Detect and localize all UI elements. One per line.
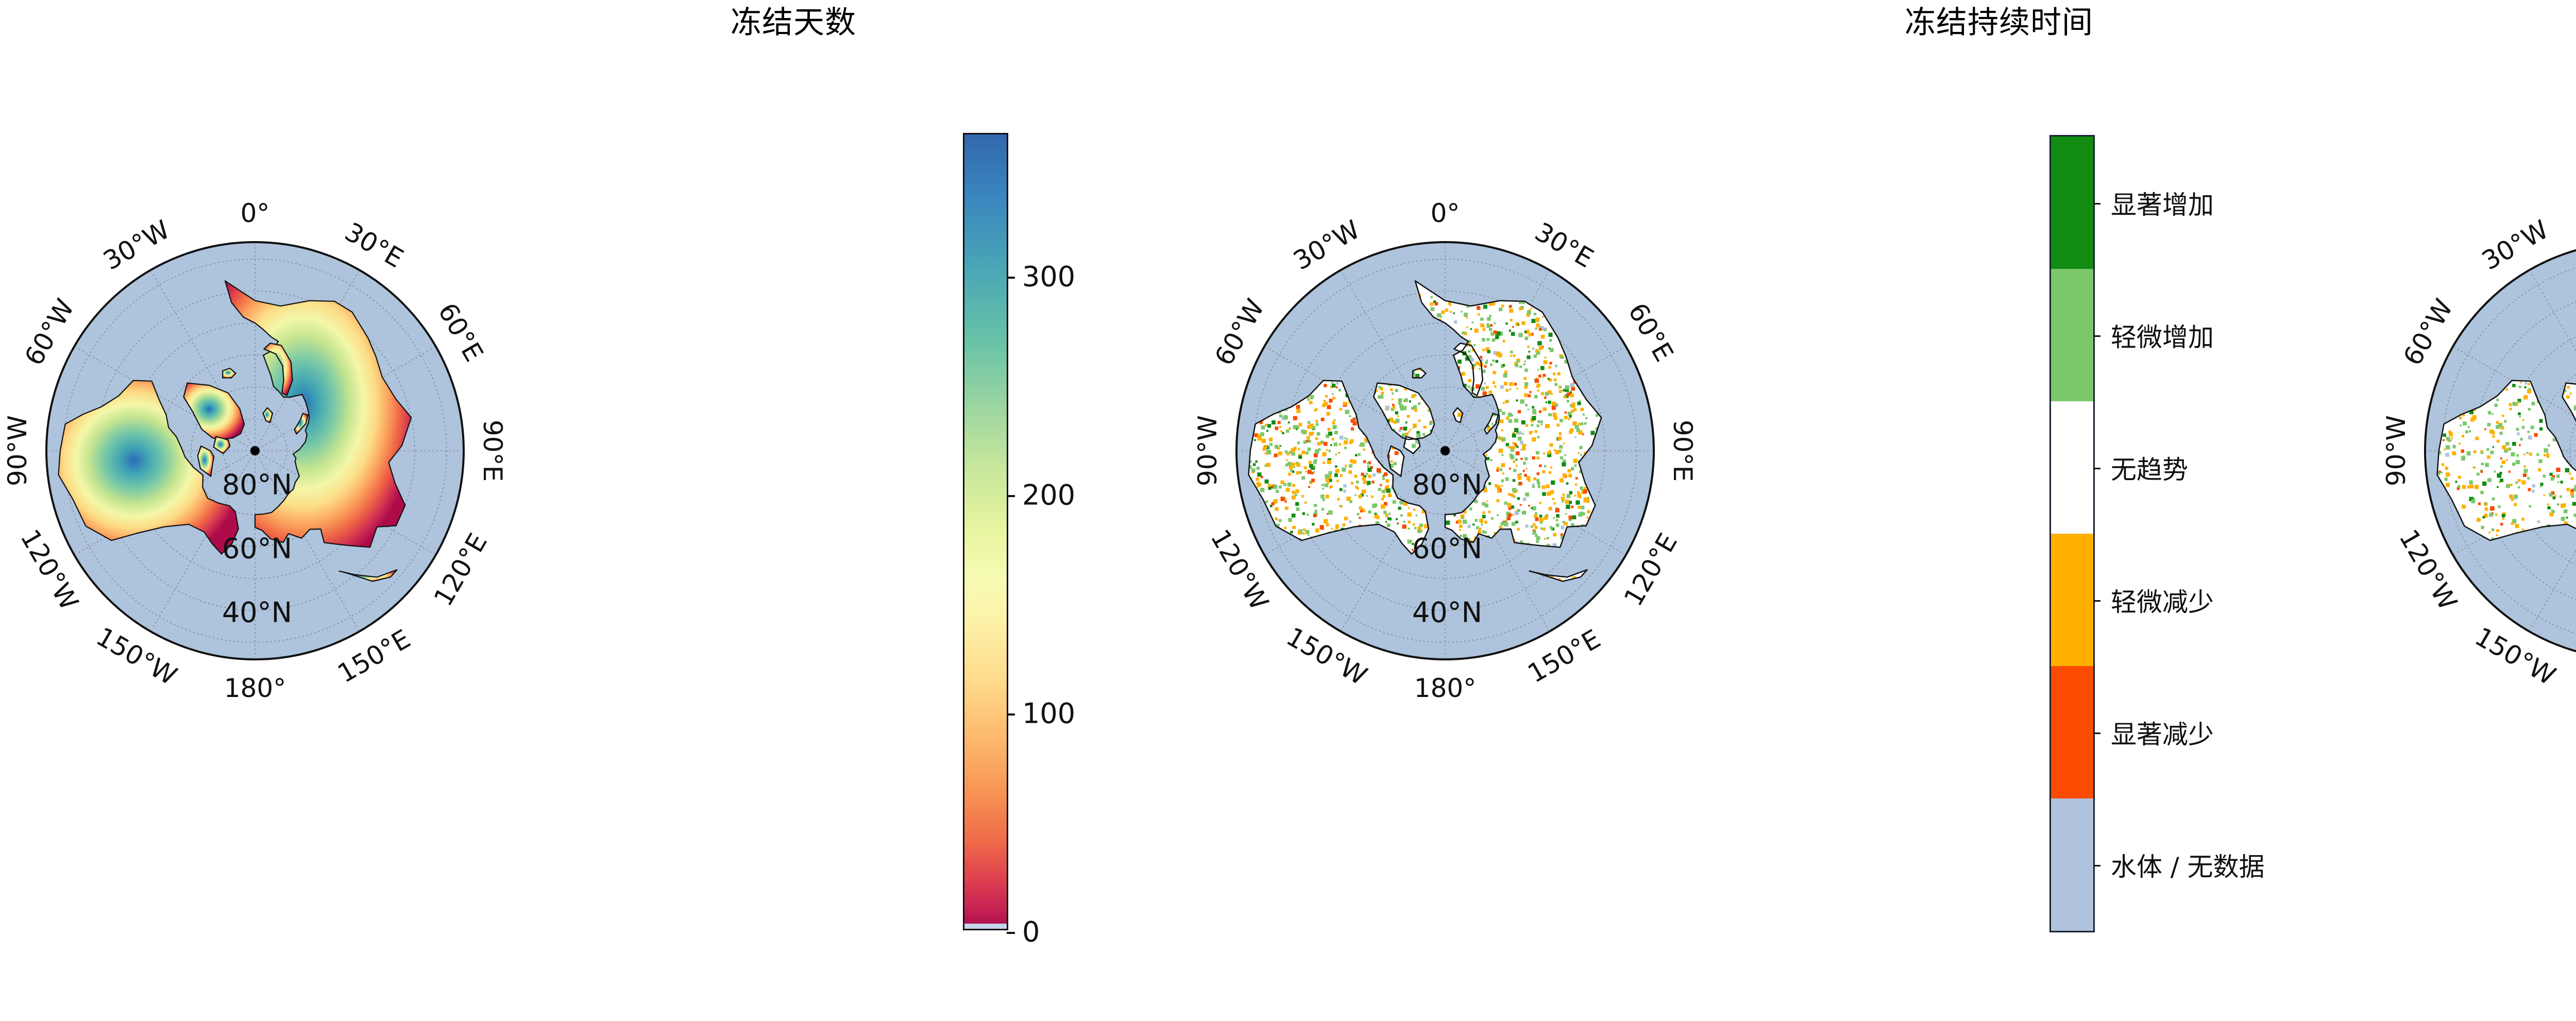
legend-swatch-2[interactable]: 无趋势 — [2051, 401, 2093, 534]
legend-tick — [2093, 600, 2100, 602]
colorbar-tick-label-0: 0 — [1022, 916, 1040, 948]
lon-label-3: 90°E — [478, 420, 507, 482]
polar-map-0: 80°N60°N40°N0°30°E60°E90°E120°E150°E180°… — [45, 241, 465, 660]
colorbar-tick — [1007, 713, 1015, 716]
lon-label-6: 180° — [224, 673, 286, 703]
lat-label-80: 80°N — [222, 469, 292, 501]
legend-swatch-4[interactable]: 显著减少 — [2051, 666, 2093, 798]
colorbar-under-swatch — [964, 924, 1007, 929]
north-pole-marker — [250, 446, 260, 455]
colorbar-tick — [1007, 277, 1015, 279]
lon-label-6: 180° — [1414, 673, 1476, 703]
lon-label-9: 90°W — [2381, 415, 2411, 486]
figure-root: 冻结天数80°N60°N40°N0°30°E60°E90°E120°E150°E… — [0, 0, 2576, 1021]
legend-label-4: 显著减少 — [2111, 714, 2214, 751]
lat-label-60: 60°N — [1412, 533, 1482, 565]
legend-tick — [2093, 865, 2100, 866]
lat-label-80: 80°N — [1412, 469, 1482, 501]
colorbar-tick-label-300: 300 — [1022, 260, 1075, 293]
colorbar-tick — [1007, 495, 1015, 497]
legend-swatch-5[interactable]: 水体 / 无数据 — [2051, 798, 2093, 931]
colorbar-tick-label-100: 100 — [1022, 697, 1075, 729]
map-disc: 80°N60°N40°N — [45, 241, 465, 660]
legend-tick — [2093, 335, 2100, 337]
colorbar-tick — [1007, 932, 1015, 934]
lat-label-40: 40°N — [222, 597, 292, 629]
legend-swatch-1[interactable]: 轻微增加 — [2051, 269, 2093, 401]
lon-label-3: 90°E — [1668, 420, 1698, 482]
legend-label-0: 显著增加 — [2111, 184, 2214, 222]
lon-label-0: 0° — [241, 198, 270, 228]
colorbar-gradient — [964, 134, 1007, 929]
legend-label-1: 轻微增加 — [2111, 317, 2214, 354]
legend-duration-trend[interactable]: 显著增加轻微增加无趋势轻微减少显著减少水体 / 无数据 — [2049, 135, 2095, 932]
north-pole-marker — [1440, 446, 1450, 455]
legend-label-3: 轻微减少 — [2111, 582, 2214, 619]
lon-label-9: 90°W — [3, 415, 32, 486]
map-disc: 80°N60°N40°N — [1235, 241, 1655, 660]
legend-label-2: 无趋势 — [2111, 449, 2188, 486]
colorbar-tick-label-200: 200 — [1022, 479, 1075, 511]
lat-label-60: 60°N — [222, 533, 292, 565]
legend-label-5: 水体 / 无数据 — [2111, 846, 2265, 883]
legend-tick — [2093, 203, 2100, 205]
lon-label-9: 90°W — [1193, 415, 1223, 486]
lat-label-40: 40°N — [1412, 597, 1482, 629]
legend-tick — [2093, 468, 2100, 469]
polar-map-1: 80°N60°N40°N0°30°E60°E90°E120°E150°E180°… — [1235, 241, 1655, 660]
legend-swatch-0[interactable]: 显著增加 — [2051, 137, 2093, 269]
lon-label-0: 0° — [1431, 198, 1460, 228]
legend-swatch-3[interactable]: 轻微减少 — [2051, 534, 2093, 666]
colorbar-freeze-days[interactable]: 3002001000 — [963, 133, 1008, 930]
legend-tick — [2093, 733, 2100, 734]
polar-map-2: 80°N60°N40°N0°30°E60°E90°E120°E150°E180°… — [2424, 241, 2576, 660]
